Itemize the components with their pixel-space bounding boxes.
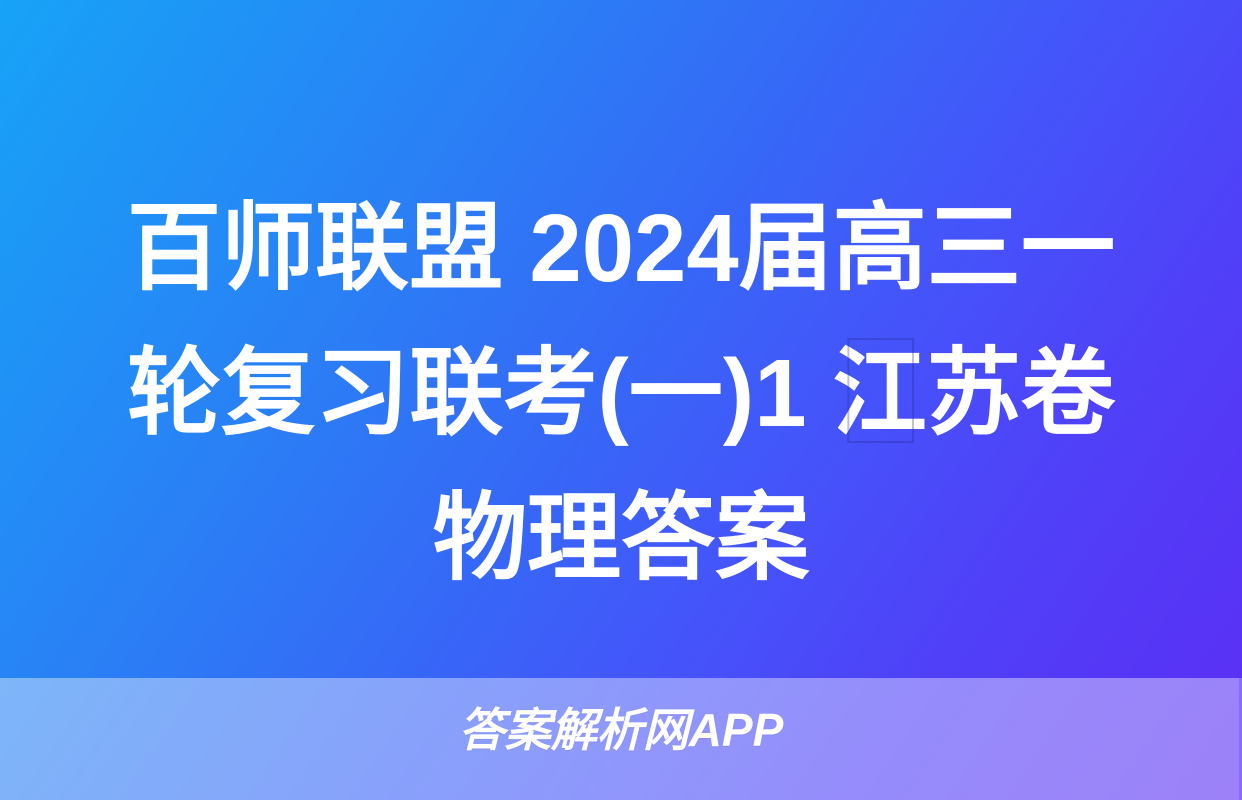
watermark-text: 答案解析网APP (459, 704, 784, 756)
title-line-1: 百师联盟 2024届高三一 (81, 176, 1161, 321)
title-line-2-suffix: 苏卷 (927, 340, 1115, 447)
title-glitch-char-jiang: 江 (833, 321, 927, 466)
title-line-3: 物理答案 (81, 466, 1161, 611)
poster-canvas: 百师联盟 2024届高三一 轮复习联考(一)1 江苏卷 物理答案 答案解析网AP… (0, 0, 1242, 800)
page-title: 百师联盟 2024届高三一 轮复习联考(一)1 江苏卷 物理答案 (70, 176, 1172, 611)
footer-watermark-band: 答案解析网APP (0, 678, 1242, 800)
title-line-2: 轮复习联考(一)1 江苏卷 (81, 321, 1161, 466)
title-line-2-prefix: 轮复习联考(一)1 (127, 340, 833, 447)
